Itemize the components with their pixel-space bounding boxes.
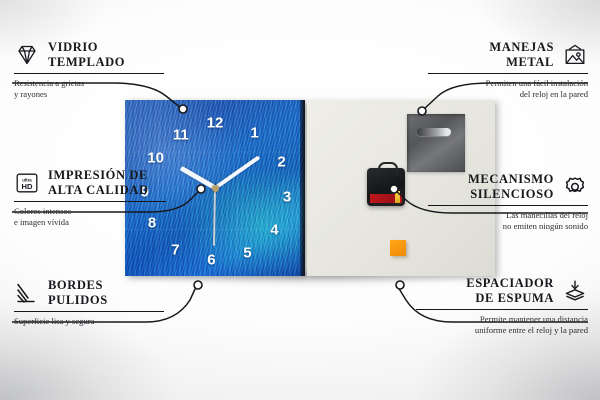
callout-title-row: BORDES PULIDOS — [14, 278, 164, 308]
callout-vidrio-templado: VIDRIO TEMPLADO Resistencia a grietas y … — [14, 40, 164, 101]
polished-edges-icon — [14, 281, 40, 305]
gear-icon — [562, 175, 588, 199]
callout-title-row: VIDRIO TEMPLADO — [14, 40, 164, 70]
infographic-canvas: 12 1 2 3 4 5 6 7 8 9 10 11 — [0, 0, 600, 400]
hanger-keyhole-slot — [417, 128, 451, 136]
callout-mecanismo-silencioso: MECANISMO SILENCIOSO Las manecillas del … — [428, 172, 588, 233]
clock-numeral-5: 5 — [243, 246, 251, 261]
clock-numeral-10: 10 — [147, 151, 164, 166]
callout-description: Permiten una fácil instalación del reloj… — [428, 78, 588, 101]
clock-numeral-3: 3 — [283, 189, 291, 204]
callout-bordes-pulidos: BORDES PULIDOS Superficie lisa y segura — [14, 278, 164, 327]
callout-rule — [428, 73, 588, 75]
callout-title-row: MECANISMO SILENCIOSO — [428, 172, 588, 202]
callout-title: MECANISMO SILENCIOSO — [468, 172, 554, 202]
callout-title-row: MANEJAS METAL — [428, 40, 588, 70]
callout-rule — [428, 205, 588, 207]
clock-numeral-12: 12 — [207, 115, 224, 130]
clock-center-cap — [212, 185, 219, 192]
callout-description: Las manecillas del reloj no emiten ningú… — [428, 210, 588, 233]
callout-rule — [14, 311, 164, 313]
callout-title-row: ultra HD IMPRESIÓN DE ALTA CALIDAD — [14, 168, 166, 198]
svg-text:HD: HD — [22, 182, 33, 191]
clock-numeral-4: 4 — [270, 223, 278, 238]
clock-numeral-6: 6 — [207, 253, 215, 268]
callout-rule — [14, 73, 164, 75]
quartz-mechanism — [367, 168, 405, 206]
callout-description: Colores intensos e imagen vívida — [14, 206, 166, 229]
callout-description: Permite mantener una distancia uniforme … — [416, 314, 588, 337]
callout-rule — [14, 201, 166, 203]
callout-title: IMPRESIÓN DE ALTA CALIDAD — [48, 168, 149, 198]
callout-title-row: ESPACIADOR DE ESPUMA — [416, 276, 588, 306]
foam-spacer-arrow-icon — [562, 279, 588, 303]
callout-title: MANEJAS METAL — [489, 40, 554, 70]
clock-side-edge — [300, 100, 305, 276]
clock-numeral-11: 11 — [173, 128, 189, 143]
callout-description: Resistencia a grietas y rayones — [14, 78, 164, 101]
callout-title: VIDRIO TEMPLADO — [48, 40, 125, 70]
callout-rule — [416, 309, 588, 311]
foam-spacer — [390, 240, 406, 256]
clock-numeral-1: 1 — [250, 126, 258, 141]
clock-numeral-7: 7 — [171, 242, 179, 257]
clock-numeral-2: 2 — [277, 154, 285, 169]
callout-title: BORDES PULIDOS — [48, 278, 108, 308]
metal-hanger-plate — [407, 114, 465, 172]
callout-espaciador-de-espuma: ESPACIADOR DE ESPUMA Permite mantener un… — [416, 276, 588, 337]
callout-description: Superficie lisa y segura — [14, 316, 164, 327]
callout-manejas-metal: MANEJAS METAL Permiten una fácil instala… — [428, 40, 588, 101]
ultra-hd-icon: ultra HD — [14, 171, 40, 195]
callout-title: ESPACIADOR DE ESPUMA — [466, 276, 554, 306]
mechanism-bail — [378, 162, 398, 174]
callout-impresion-alta-calidad: ultra HD IMPRESIÓN DE ALTA CALIDAD Color… — [14, 168, 166, 229]
wall-frame-hanger-icon — [562, 43, 588, 67]
diamond-icon — [14, 43, 40, 67]
mechanism-label — [370, 194, 402, 203]
